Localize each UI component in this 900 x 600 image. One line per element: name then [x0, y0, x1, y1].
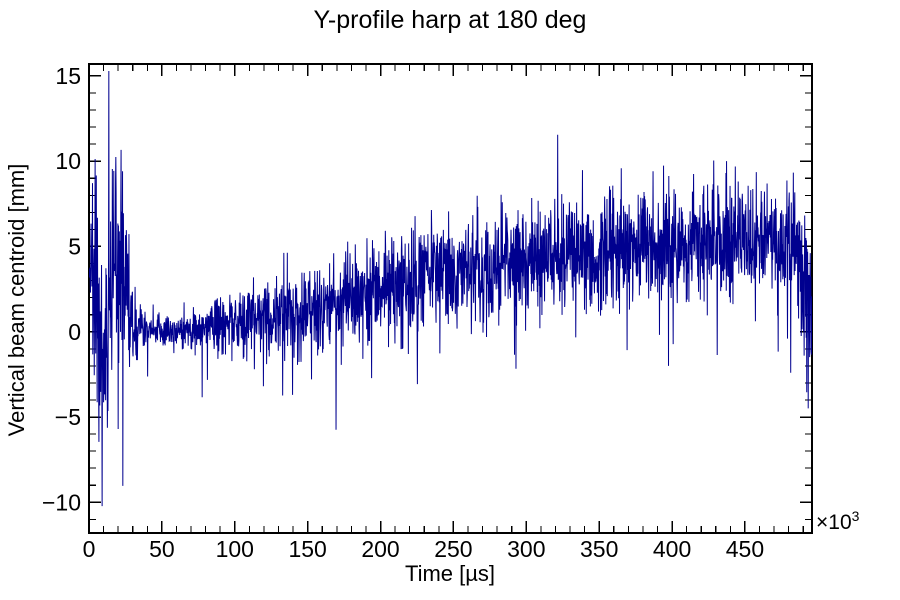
y-axis-label: Vertical beam centroid [mm] — [4, 164, 29, 437]
chart-title: Y-profile harp at 180 deg — [314, 6, 587, 34]
y-tick-label: 0 — [68, 319, 81, 345]
x-tick-label: 350 — [580, 536, 618, 562]
x-tick-label: 200 — [361, 536, 399, 562]
x-tick-label: 150 — [288, 536, 326, 562]
chart-canvas: Y-profile harp at 180 deg 05010015020025… — [0, 0, 900, 600]
x-tick-label: 450 — [726, 536, 764, 562]
x-tick-label: 250 — [434, 536, 472, 562]
y-tick-label: −10 — [42, 489, 81, 515]
x-tick-label: 300 — [507, 536, 545, 562]
y-tick-label: 15 — [55, 63, 81, 89]
chart-figure: Y-profile harp at 180 deg 05010015020025… — [0, 0, 900, 600]
x-tick-label: 0 — [83, 536, 96, 562]
x-tick-label: 100 — [216, 536, 254, 562]
y-tick-label: 10 — [55, 148, 81, 174]
y-tick-label: −5 — [55, 404, 81, 430]
y-tick-label: 5 — [68, 233, 81, 259]
x-tick-label: 400 — [653, 536, 691, 562]
x-axis-label: Time [µs] — [405, 561, 495, 586]
x-tick-label: 50 — [149, 536, 175, 562]
